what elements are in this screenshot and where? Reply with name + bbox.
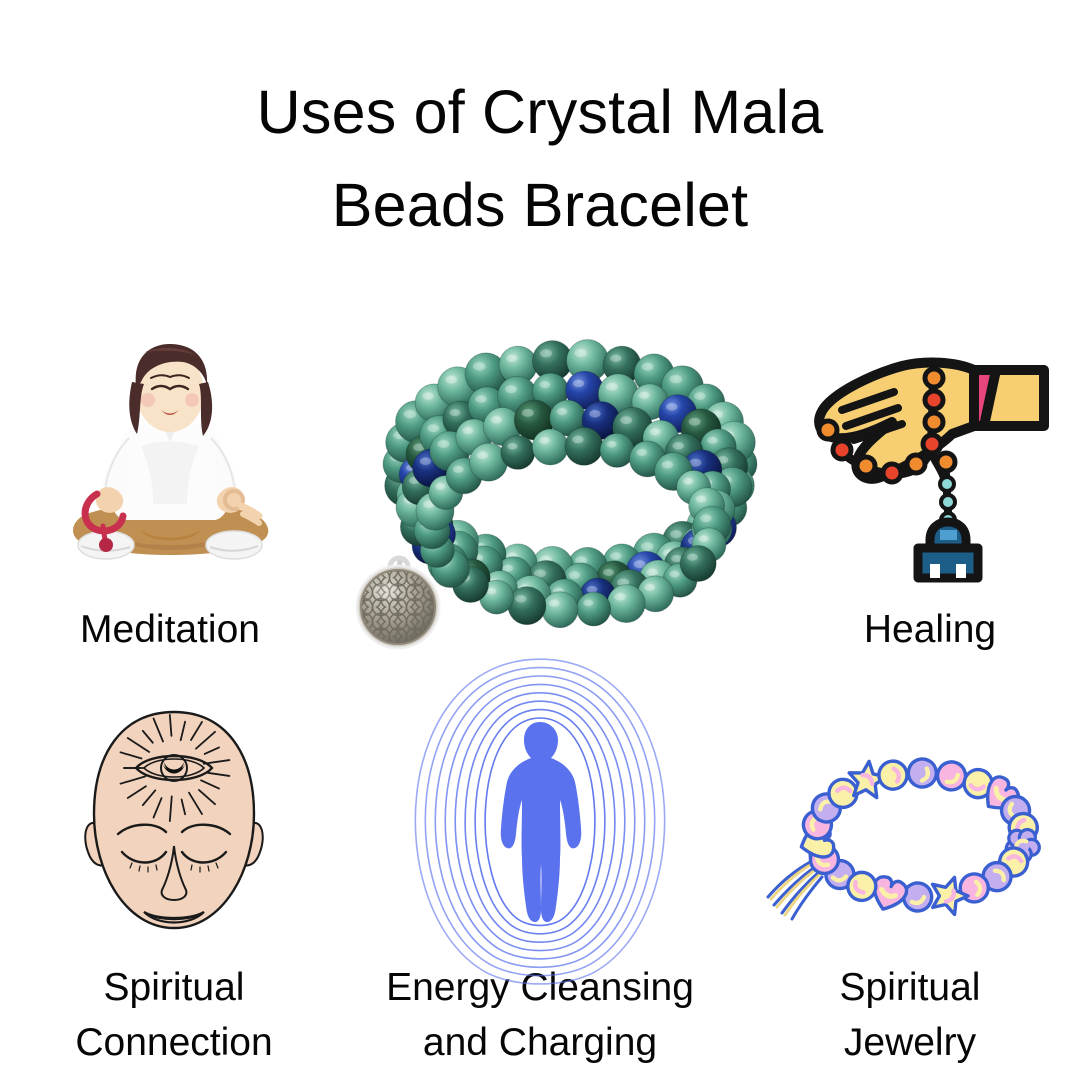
third-eye-face-icon [28, 702, 320, 942]
meditating-woman-icon [14, 326, 326, 584]
page-title: Uses of Crystal Mala Beads Bracelet [0, 66, 1080, 251]
crystal-mala-beads-bracelet-photo [330, 322, 810, 682]
title-line-1: Uses of Crystal Mala [0, 66, 1080, 159]
item-label-spiritual-jewelry: Spiritual Jewelry [760, 960, 1060, 1071]
item-label-energy-cleansing: Energy Cleansing and Charging [372, 960, 708, 1071]
item-spiritual-jewelry: Spiritual Jewelry [760, 702, 1060, 1071]
item-energy-cleansing: Energy Cleansing and Charging [372, 702, 708, 1071]
item-label-meditation: Meditation [14, 602, 326, 657]
pastel-bead-bracelet-icon [760, 702, 1060, 942]
aura-body-energy-icon [372, 702, 708, 942]
flower-of-life-pendant [357, 558, 439, 648]
item-meditation: Meditation [14, 326, 326, 657]
title-line-2: Beads Bracelet [0, 159, 1080, 252]
hand-holding-prayer-beads-icon [780, 326, 1080, 584]
infographic-canvas: Uses of Crystal Mala Beads Bracelet [0, 0, 1080, 1080]
item-healing: Healing [780, 326, 1080, 657]
item-label-healing: Healing [780, 602, 1080, 657]
item-label-spiritual-connection: Spiritual Connection [28, 960, 320, 1071]
item-spiritual-connection: Spiritual Connection [28, 702, 320, 1071]
